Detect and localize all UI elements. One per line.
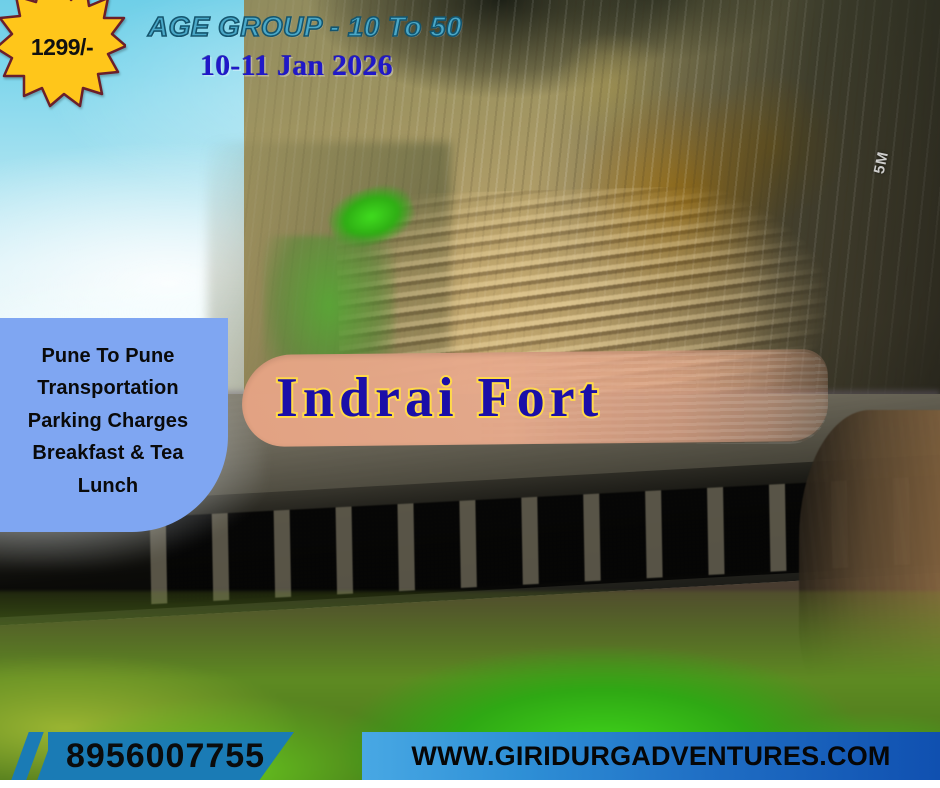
page-title: Indrai Fort — [276, 358, 796, 438]
inclusion-item: Breakfast & Tea — [4, 437, 212, 469]
inclusion-item: Transportation — [4, 372, 212, 404]
bottom-white-strip — [0, 780, 940, 788]
inclusion-item: Parking Charges — [4, 405, 212, 437]
price-amount: 1299/- — [0, 0, 126, 108]
inclusions-box: Pune To Pune Transportation Parking Char… — [0, 318, 228, 532]
price-badge: 1299/- — [0, 0, 126, 108]
age-group-label: AGE GROUP - 10 To 50 — [148, 11, 462, 43]
inclusion-item: Pune To Pune — [4, 340, 212, 372]
poster-canvas: 5M 1299/- AGE GROUP - 10 To 50 10-11 Jan… — [0, 0, 940, 788]
title-banner: Indrai Fort — [242, 352, 828, 444]
slash-mark-two — [37, 732, 69, 780]
inclusion-item: Lunch — [4, 470, 212, 502]
phone-banner[interactable]: 8956007755 — [48, 732, 294, 780]
website-url[interactable]: WWW.GIRIDURGADVENTURES.COM — [411, 741, 890, 772]
slash-decoration — [20, 732, 84, 780]
trip-date-label: 10-11 Jan 2026 — [200, 49, 393, 83]
website-banner[interactable]: WWW.GIRIDURGADVENTURES.COM — [362, 732, 940, 780]
